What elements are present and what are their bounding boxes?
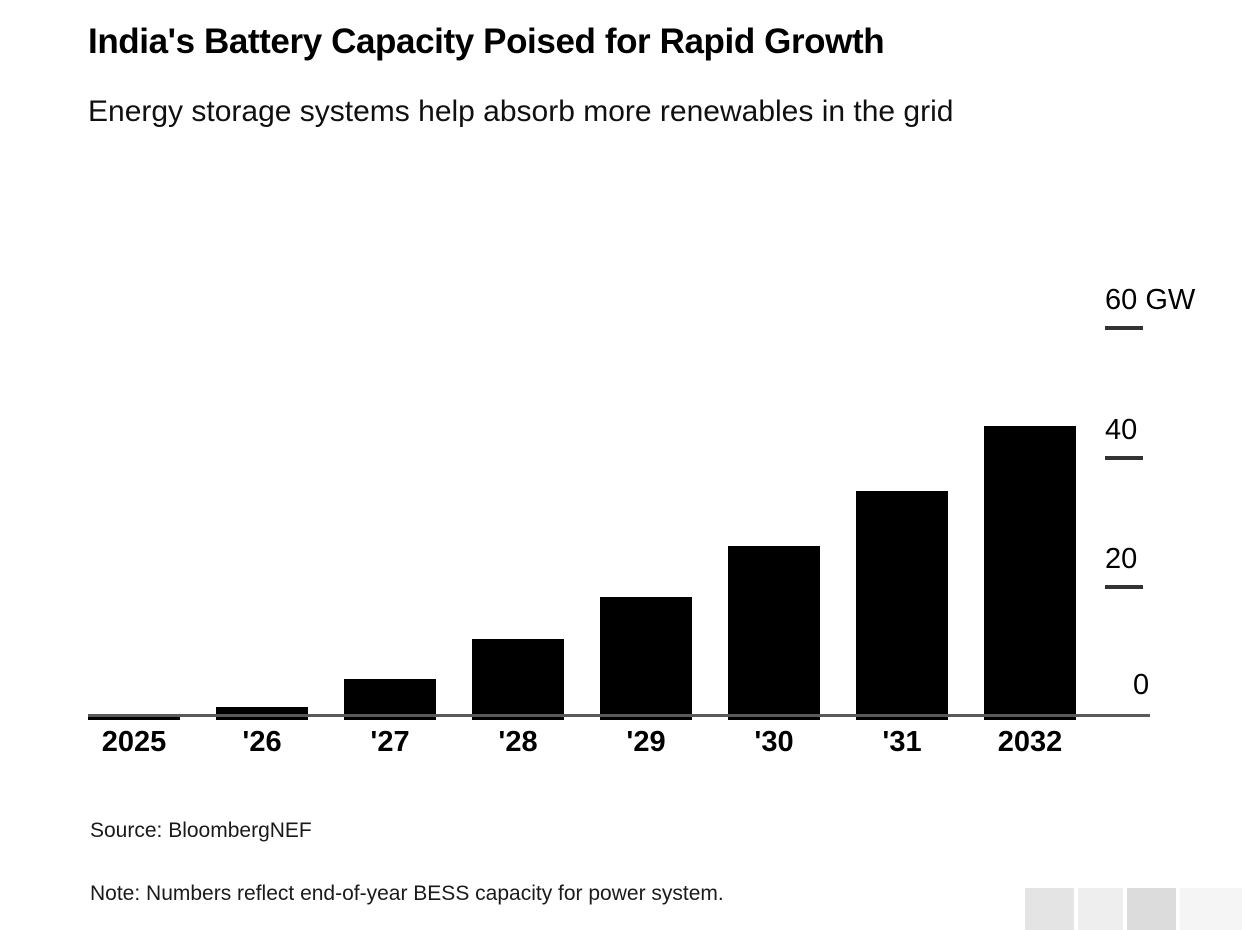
plot-area	[88, 280, 1153, 720]
x-axis: 2025'26'27'28'29'30'312032	[88, 726, 1093, 770]
placeholder-block	[1127, 888, 1176, 930]
y-axis-tick-rule	[1105, 326, 1143, 330]
y-axis-tick-label: 20	[1105, 545, 1235, 574]
x-axis-tick-label: '27	[344, 726, 436, 759]
y-axis-tick-label: 40	[1105, 416, 1235, 445]
bar[interactable]	[728, 546, 820, 720]
bar[interactable]	[600, 597, 692, 720]
y-axis-tick-label: 0	[1105, 671, 1235, 700]
x-axis-tick-label: '29	[600, 726, 692, 759]
y-axis-tick-rule	[1105, 585, 1143, 589]
placeholder-block	[1025, 888, 1074, 930]
placeholder-block	[1078, 888, 1123, 930]
y-axis-tick: 0	[1105, 671, 1235, 700]
x-axis-tick-label: '31	[856, 726, 948, 759]
bar[interactable]	[984, 426, 1076, 720]
placeholder-block	[1180, 888, 1242, 930]
page-title: India's Battery Capacity Poised for Rapi…	[88, 22, 1178, 62]
x-axis-tick-label: 2025	[88, 726, 180, 759]
bar[interactable]	[472, 639, 564, 720]
bar-series	[88, 286, 1093, 720]
chart-subtitle: Energy storage systems help absorb more …	[88, 62, 1148, 133]
y-axis-tick-rule	[1105, 456, 1143, 460]
x-axis-tick-label: 2032	[984, 726, 1076, 759]
y-axis-tick-label: 60 GW	[1105, 286, 1235, 315]
bar[interactable]	[856, 491, 948, 720]
chart-page: India's Battery Capacity Poised for Rapi…	[0, 0, 1242, 930]
chart-header: India's Battery Capacity Poised for Rapi…	[88, 22, 1178, 133]
source-text: Source: BloombergNEF	[90, 818, 1150, 843]
x-axis-tick-label: '26	[216, 726, 308, 759]
chart-footer: Source: BloombergNEF Note: Numbers refle…	[90, 818, 1150, 906]
x-axis-baseline	[88, 714, 1150, 717]
y-axis-tick: 40	[1105, 416, 1235, 460]
y-axis-tick: 60 GW	[1105, 286, 1235, 330]
y-axis-tick: 20	[1105, 545, 1235, 589]
placeholder-blocks	[1025, 888, 1242, 930]
x-axis-tick-label: '30	[728, 726, 820, 759]
y-axis: 60 GW40200	[1105, 275, 1235, 725]
note-text: Note: Numbers reflect end-of-year BESS c…	[90, 843, 1150, 906]
x-axis-tick-label: '28	[472, 726, 564, 759]
